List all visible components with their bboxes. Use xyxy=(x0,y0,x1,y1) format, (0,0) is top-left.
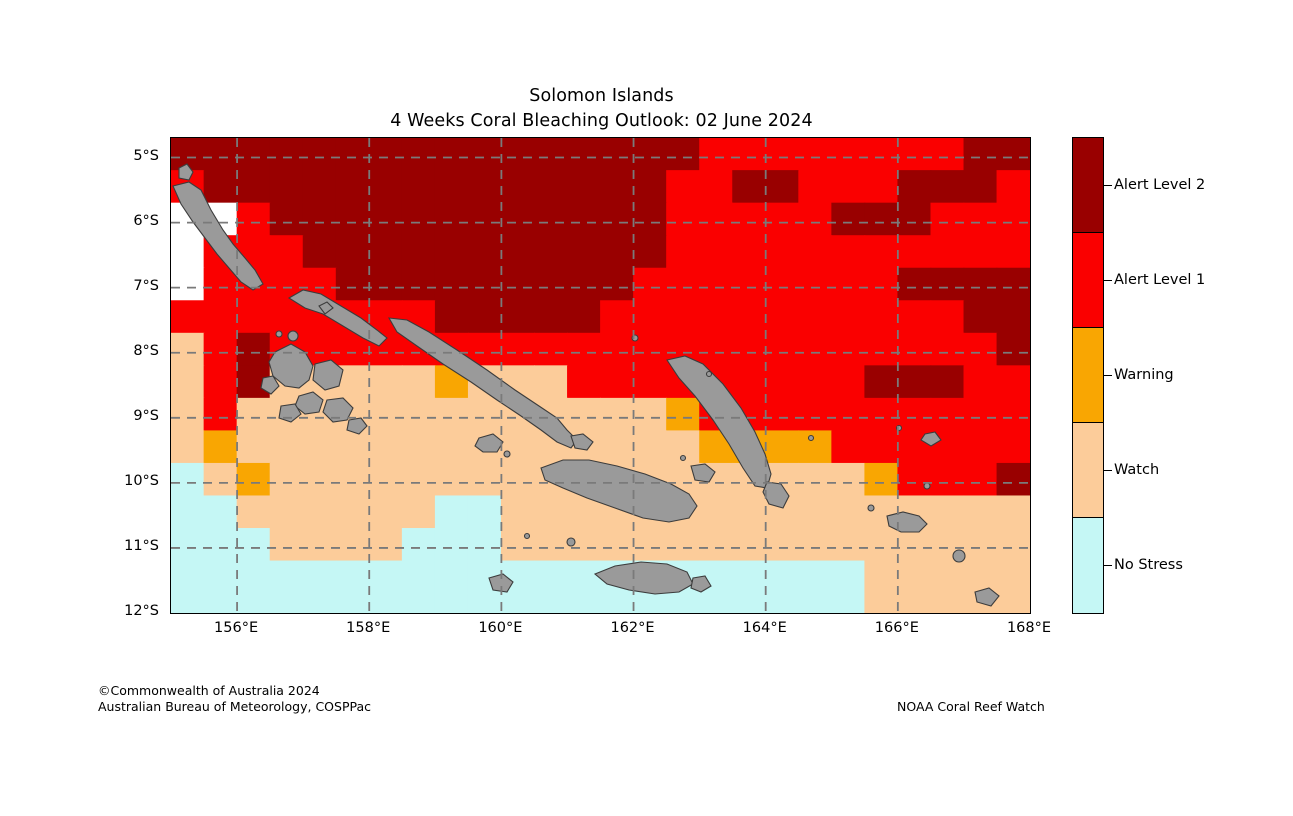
heatmap-cell xyxy=(303,528,337,561)
heatmap-cell xyxy=(270,300,304,333)
heatmap-cell xyxy=(997,300,1030,333)
heatmap-cell xyxy=(534,138,568,171)
heatmap-cell xyxy=(732,528,766,561)
heatmap-cell xyxy=(930,268,964,301)
heatmap-cell xyxy=(336,593,370,613)
heatmap-cell xyxy=(468,300,502,333)
heatmap-cell xyxy=(864,170,898,203)
heatmap-cell xyxy=(997,398,1030,431)
heatmap-cell xyxy=(402,268,436,301)
heatmap-cell xyxy=(270,235,304,268)
heatmap-cell xyxy=(997,495,1030,528)
heatmap-cell xyxy=(567,398,601,431)
heatmap-cell xyxy=(501,138,535,171)
heatmap-cell xyxy=(699,138,733,171)
heatmap-cell xyxy=(997,235,1030,268)
heatmap-cell xyxy=(435,561,469,594)
heatmap-cell xyxy=(666,235,700,268)
heatmap-cell xyxy=(798,593,832,613)
heatmap-cell xyxy=(237,398,271,431)
heatmap-cell xyxy=(534,333,568,366)
heatmap-cell xyxy=(237,333,271,366)
x-tick-label: 164°E xyxy=(705,620,825,636)
heatmap-cell xyxy=(171,430,204,463)
heatmap-cell xyxy=(765,203,799,236)
x-tick-label: 168°E xyxy=(969,620,1089,636)
heatmap-cell xyxy=(204,430,238,463)
heatmap-cell xyxy=(633,528,667,561)
heatmap-cell xyxy=(897,203,931,236)
heatmap-cell xyxy=(204,333,238,366)
heatmap-cell xyxy=(666,300,700,333)
heatmap-cell xyxy=(567,300,601,333)
heatmap-cell xyxy=(997,463,1030,496)
heatmap-cell xyxy=(964,430,998,463)
heatmap-cell xyxy=(964,170,998,203)
heatmap-cell xyxy=(930,365,964,398)
heatmap-cell xyxy=(930,463,964,496)
heatmap-cell xyxy=(831,203,865,236)
heatmap-cell xyxy=(435,170,469,203)
heatmap-cell xyxy=(270,593,304,613)
bleaching-outlook-figure: Solomon Islands 4 Weeks Coral Bleaching … xyxy=(0,0,1293,816)
heatmap-cell xyxy=(964,398,998,431)
heatmap-cell xyxy=(831,333,865,366)
heatmap-cell xyxy=(732,203,766,236)
heatmap-cell xyxy=(699,203,733,236)
heatmap-cell xyxy=(270,463,304,496)
x-tick-label: 160°E xyxy=(440,620,560,636)
heatmap-cell xyxy=(930,138,964,171)
heatmap-cell xyxy=(997,593,1030,613)
legend-swatch[interactable] xyxy=(1073,518,1103,613)
heatmap-cell xyxy=(930,495,964,528)
heatmap-cell xyxy=(336,268,370,301)
heatmap-cell xyxy=(369,235,403,268)
heatmap-cell xyxy=(270,528,304,561)
y-tick-label: 11°S xyxy=(69,538,159,554)
heatmap-cell xyxy=(798,463,832,496)
heatmap-cell xyxy=(831,528,865,561)
heatmap-cell xyxy=(864,561,898,594)
heatmap-cell xyxy=(765,300,799,333)
heatmap-cell xyxy=(897,333,931,366)
heatmap-cell xyxy=(798,235,832,268)
heatmap-cell xyxy=(468,203,502,236)
heatmap-cell xyxy=(997,430,1030,463)
heatmap-cell xyxy=(336,561,370,594)
heatmap-cell xyxy=(798,170,832,203)
heatmap-cell xyxy=(303,463,337,496)
footer-copyright-line-1: ©Commonwealth of Australia 2024 xyxy=(98,683,371,699)
heatmap-cell xyxy=(171,333,204,366)
heatmap-cell xyxy=(897,300,931,333)
legend-colorbar[interactable] xyxy=(1072,137,1104,614)
heatmap-cell xyxy=(435,593,469,613)
heatmap-cell xyxy=(864,235,898,268)
legend-swatch[interactable] xyxy=(1073,423,1103,518)
heatmap-cell xyxy=(171,528,204,561)
heatmap-cell xyxy=(666,203,700,236)
heatmap-cell xyxy=(501,203,535,236)
heatmap-cell xyxy=(435,430,469,463)
heatmap-cell xyxy=(600,203,634,236)
heatmap-cell xyxy=(666,170,700,203)
heatmap-cell xyxy=(997,561,1030,594)
heatmap-cell xyxy=(732,365,766,398)
heatmap-cell xyxy=(798,398,832,431)
heatmap-cell xyxy=(600,138,634,171)
y-tick-label: 6°S xyxy=(69,213,159,229)
heatmap-cell xyxy=(864,300,898,333)
y-tick-label: 10°S xyxy=(69,473,159,489)
heatmap-cell xyxy=(633,365,667,398)
legend-label: Warning xyxy=(1114,367,1174,383)
heatmap-cell xyxy=(930,203,964,236)
heatmap-cell xyxy=(864,430,898,463)
heatmap-cell xyxy=(501,463,535,496)
heatmap-cell xyxy=(204,593,238,613)
heatmap-cell xyxy=(336,463,370,496)
heatmap-cell xyxy=(336,430,370,463)
heatmap-cell xyxy=(336,203,370,236)
heatmap-cell xyxy=(864,528,898,561)
heatmap-cell xyxy=(402,170,436,203)
heatmap-cell xyxy=(336,495,370,528)
heatmap-cell xyxy=(666,268,700,301)
heatmap-cell xyxy=(501,300,535,333)
heatmap-cell xyxy=(633,430,667,463)
heatmap-cell xyxy=(402,593,436,613)
heatmap-cell xyxy=(369,463,403,496)
x-tick-label: 156°E xyxy=(176,620,296,636)
heatmap-cell xyxy=(798,430,832,463)
heatmap-cell xyxy=(534,495,568,528)
heatmap-cell xyxy=(798,138,832,171)
heatmap-cell xyxy=(699,593,733,613)
heatmap-cell xyxy=(997,528,1030,561)
legend-swatch[interactable] xyxy=(1073,138,1103,233)
heatmap-cell xyxy=(435,268,469,301)
heatmap-cell xyxy=(997,333,1030,366)
legend-tick xyxy=(1103,280,1112,281)
heatmap-cell xyxy=(964,495,998,528)
heatmap-cell xyxy=(303,235,337,268)
heatmap-cell xyxy=(600,430,634,463)
heatmap-cell xyxy=(501,333,535,366)
heatmap-cell xyxy=(336,528,370,561)
legend-tick xyxy=(1103,470,1112,471)
heatmap-cell xyxy=(336,235,370,268)
heatmap-cell xyxy=(600,333,634,366)
heatmap-cell xyxy=(435,528,469,561)
heatmap-cell xyxy=(435,203,469,236)
heatmap-cell xyxy=(964,203,998,236)
heatmap-cell xyxy=(237,463,271,496)
heatmap-cell xyxy=(237,170,271,203)
heatmap-cell xyxy=(765,365,799,398)
heatmap-cell xyxy=(468,528,502,561)
heatmap-cell xyxy=(501,170,535,203)
heatmap-cell xyxy=(369,138,403,171)
heatmap-cell xyxy=(864,365,898,398)
heatmap-cell xyxy=(468,463,502,496)
heatmap-cell xyxy=(567,365,601,398)
heatmap-cell xyxy=(633,268,667,301)
heatmap-cell xyxy=(964,333,998,366)
heatmap-cell xyxy=(171,398,204,431)
heatmap-cell xyxy=(600,268,634,301)
heatmap-cell xyxy=(699,300,733,333)
heatmap-cell xyxy=(897,235,931,268)
heatmap-cell xyxy=(237,561,271,594)
heatmap-cell xyxy=(765,333,799,366)
heatmap-cell xyxy=(303,203,337,236)
heatmap-cell xyxy=(831,268,865,301)
heatmap-cell xyxy=(501,528,535,561)
heatmap-cell xyxy=(798,300,832,333)
heatmap-cell xyxy=(534,235,568,268)
heatmap-cell xyxy=(171,593,204,613)
y-tick-label: 8°S xyxy=(69,343,159,359)
heatmap-cell xyxy=(270,170,304,203)
x-tick-label: 158°E xyxy=(308,620,428,636)
heatmap-cell xyxy=(468,268,502,301)
heatmap-cell xyxy=(765,398,799,431)
heatmap-cell xyxy=(699,333,733,366)
legend-tick xyxy=(1103,375,1112,376)
heatmap-cell xyxy=(270,495,304,528)
heatmap-cell xyxy=(171,561,204,594)
heatmap-cell xyxy=(699,235,733,268)
heatmap-cell xyxy=(567,561,601,594)
title-line-2: 4 Weeks Coral Bleaching Outlook: 02 June… xyxy=(0,109,1203,134)
heatmap-cell xyxy=(336,138,370,171)
heatmap-cell xyxy=(534,170,568,203)
heatmap-cell xyxy=(336,170,370,203)
heatmap-cell xyxy=(798,495,832,528)
heatmap-cell xyxy=(534,593,568,613)
legend-swatch[interactable] xyxy=(1073,233,1103,328)
heatmap-cell xyxy=(633,593,667,613)
heatmap-cell xyxy=(567,268,601,301)
heatmap-cell xyxy=(831,170,865,203)
heatmap-cell xyxy=(600,300,634,333)
heatmap-cell xyxy=(468,138,502,171)
heatmap-cell xyxy=(930,333,964,366)
heatmap-cell xyxy=(171,268,204,301)
heatmap-cell xyxy=(369,528,403,561)
heatmap-cell xyxy=(798,561,832,594)
heatmap-cell xyxy=(997,138,1030,171)
heatmap-cell xyxy=(831,495,865,528)
heatmap-cell xyxy=(270,138,304,171)
heatmap-cell xyxy=(402,235,436,268)
heatmap-cell xyxy=(732,138,766,171)
heatmap-cell xyxy=(435,495,469,528)
heatmap-cell xyxy=(765,430,799,463)
heatmap-cell xyxy=(237,430,271,463)
heatmap-cell xyxy=(567,203,601,236)
heatmap-cell xyxy=(831,398,865,431)
heatmap-cell xyxy=(534,365,568,398)
heatmap-cell xyxy=(633,138,667,171)
heatmap-cell xyxy=(930,235,964,268)
heatmap-cell xyxy=(798,365,832,398)
heatmap-cell xyxy=(369,170,403,203)
heatmap-cell xyxy=(402,463,436,496)
heatmap-cell xyxy=(402,528,436,561)
heatmap-cell xyxy=(964,365,998,398)
heatmap-cell xyxy=(666,398,700,431)
heatmap-cell xyxy=(930,300,964,333)
legend-tick xyxy=(1103,185,1112,186)
heatmap-cell xyxy=(600,528,634,561)
heatmap-cell xyxy=(534,300,568,333)
heatmap-cell xyxy=(765,593,799,613)
heatmap-cell xyxy=(732,268,766,301)
heatmap-cell xyxy=(534,203,568,236)
heatmap-cell xyxy=(303,561,337,594)
heatmap-cell xyxy=(897,463,931,496)
heatmap-cell xyxy=(303,138,337,171)
heatmap-cell xyxy=(534,528,568,561)
legend-label: Watch xyxy=(1114,462,1159,478)
heatmap-cell xyxy=(864,203,898,236)
map-plot-area[interactable] xyxy=(170,137,1031,614)
heatmap-cell xyxy=(732,300,766,333)
heatmap-cell xyxy=(600,170,634,203)
heatmap-cell xyxy=(930,398,964,431)
heatmap-cell xyxy=(997,268,1030,301)
heatmap-cell xyxy=(732,561,766,594)
heatmap-cell xyxy=(237,528,271,561)
heatmap-cell xyxy=(633,170,667,203)
heatmap-cell xyxy=(831,593,865,613)
heatmap-cell xyxy=(964,528,998,561)
heatmap-cell xyxy=(369,430,403,463)
heatmap-cell xyxy=(897,561,931,594)
heatmap-cell xyxy=(171,495,204,528)
heatmap-cell xyxy=(798,268,832,301)
heatmap-cell xyxy=(699,170,733,203)
heatmap-cell xyxy=(501,235,535,268)
heatmap-cell xyxy=(534,268,568,301)
heatmap-cell xyxy=(369,365,403,398)
heatmap-cell xyxy=(732,170,766,203)
heatmap-cell xyxy=(666,528,700,561)
heatmap-cell xyxy=(765,561,799,594)
heatmap-cell xyxy=(765,170,799,203)
heatmap-cell xyxy=(237,138,271,171)
heatmap-cell xyxy=(204,495,238,528)
legend-label: Alert Level 1 xyxy=(1114,272,1205,288)
heatmap-cell xyxy=(831,300,865,333)
y-tick-label: 7°S xyxy=(69,278,159,294)
heatmap-cell xyxy=(204,365,238,398)
heatmap-cell xyxy=(666,593,700,613)
heatmap-cell xyxy=(369,561,403,594)
heatmap-cell xyxy=(633,235,667,268)
heatmap-cell xyxy=(831,235,865,268)
legend-label: Alert Level 2 xyxy=(1114,177,1205,193)
heatmap-cell xyxy=(303,495,337,528)
heatmap-cell xyxy=(237,300,271,333)
heatmap-cell xyxy=(402,561,436,594)
heatmap-cell xyxy=(897,170,931,203)
heatmap-cell xyxy=(633,398,667,431)
heatmap-cell xyxy=(204,398,238,431)
heatmap-cell xyxy=(831,463,865,496)
heatmap-cell xyxy=(864,333,898,366)
heatmap-cell xyxy=(831,138,865,171)
heatmap-cell xyxy=(964,561,998,594)
heatmap-cell xyxy=(997,203,1030,236)
heatmap-cell xyxy=(964,235,998,268)
heatmap-cell xyxy=(964,300,998,333)
heatmap-cell xyxy=(699,268,733,301)
heatmap-cell xyxy=(204,138,238,171)
heatmap-cell xyxy=(765,138,799,171)
heatmap-cell xyxy=(501,268,535,301)
heatmap-cell xyxy=(831,430,865,463)
x-tick-label: 162°E xyxy=(573,620,693,636)
legend-label: No Stress xyxy=(1114,557,1183,573)
heatmap-cell xyxy=(930,561,964,594)
heatmap-cell xyxy=(468,593,502,613)
heatmap-cell xyxy=(666,138,700,171)
heatmap-cell xyxy=(964,138,998,171)
heatmap-cell xyxy=(270,561,304,594)
heatmap-cell xyxy=(897,528,931,561)
heatmap-cell xyxy=(765,528,799,561)
heatmap-cell xyxy=(171,235,204,268)
heatmap-cell xyxy=(567,138,601,171)
heatmap-cell xyxy=(864,398,898,431)
heatmap-cell xyxy=(897,593,931,613)
heatmap-cell xyxy=(204,170,238,203)
heatmap-cell xyxy=(930,170,964,203)
heatmap-cell xyxy=(402,138,436,171)
heatmap-cell xyxy=(435,398,469,431)
heatmap-cell xyxy=(501,495,535,528)
footer-copyright: ©Commonwealth of Australia 2024 Australi… xyxy=(98,683,371,714)
legend-swatch[interactable] xyxy=(1073,328,1103,423)
heatmap-cell xyxy=(237,593,271,613)
heatmap-cell xyxy=(369,203,403,236)
heatmap-cell xyxy=(204,463,238,496)
heatmap-cell xyxy=(402,430,436,463)
heatmap-cell xyxy=(468,398,502,431)
heatmap-cell xyxy=(997,170,1030,203)
heatmap-cell xyxy=(633,300,667,333)
heatmap-cell xyxy=(897,398,931,431)
heatmap-cell xyxy=(831,365,865,398)
heatmap-cell xyxy=(798,528,832,561)
heatmap-cell xyxy=(171,365,204,398)
heatmap-cell xyxy=(997,365,1030,398)
heatmap-cell xyxy=(864,138,898,171)
heatmap-cell xyxy=(468,235,502,268)
heatmap-cell xyxy=(468,170,502,203)
heatmap-cell xyxy=(567,235,601,268)
heatmap-cell xyxy=(402,203,436,236)
heatmap-cell xyxy=(897,268,931,301)
heatmap-cell xyxy=(369,398,403,431)
footer-attribution: NOAA Coral Reef Watch xyxy=(897,699,1045,714)
heatmap-cell xyxy=(171,463,204,496)
heatmap-cell xyxy=(270,430,304,463)
